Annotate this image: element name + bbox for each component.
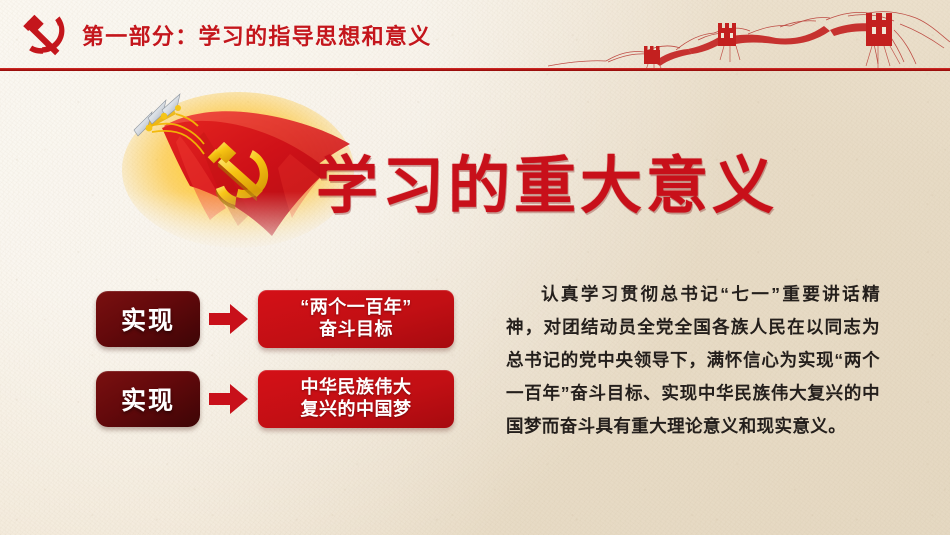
slide-header: 第一部分：学习的指导思想和意义 [0,0,950,72]
page-title: 第一部分：学习的指导思想和意义 [82,19,432,51]
hero-title: 学习的重大意义 [316,156,778,218]
presentation-slide: 第一部分：学习的指导思想和意义 [0,0,950,535]
arrow-right-icon [206,299,252,339]
goal-target-line-2: 复兴的中国梦 [301,399,412,421]
goal-target-box: 中华民族伟大 复兴的中国梦 [258,370,454,428]
body-paragraph: 认真学习贯彻总书记“七一”重要讲话精神，对团结动员全党全国各族人民在以同志为总书… [506,278,880,443]
paper-grain-texture [0,0,950,535]
goal-row: 实现 “两个一百年” 奋斗目标 [96,290,454,348]
goal-row: 实现 中华民族伟大 复兴的中国梦 [96,370,454,428]
goal-target-line-1: “两个一百年” [300,297,412,319]
paper-speckle-texture [0,0,950,535]
great-wall-illustration [548,4,950,70]
goal-label-badge: 实现 [96,291,200,347]
header-divider [0,68,950,71]
goal-target-box: “两个一百年” 奋斗目标 [258,290,454,348]
arrow-right-icon [206,379,252,419]
goal-target-line-1: 中华民族伟大 [301,377,412,399]
goal-label-badge: 实现 [96,371,200,427]
hammer-sickle-icon [18,12,74,62]
goal-target-line-2: 奋斗目标 [319,319,393,341]
